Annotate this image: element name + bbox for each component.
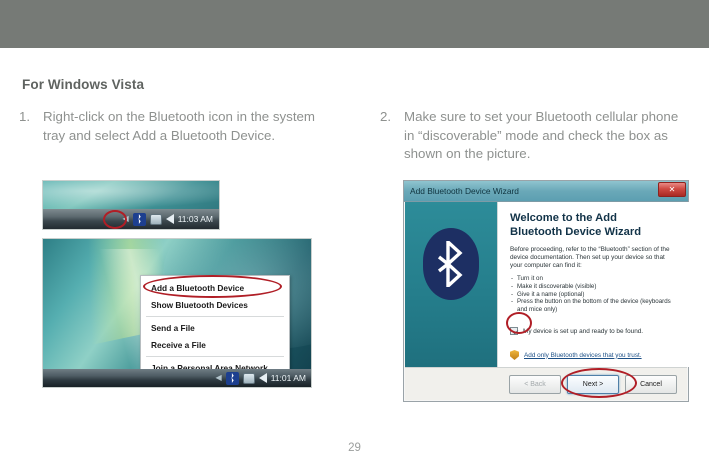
step-1-text: Right-click on the Bluetooth icon in the…	[43, 108, 319, 145]
bullet-give-name: Give it a name (optional)	[510, 291, 682, 299]
wallpaper-highlight	[42, 180, 220, 211]
shield-icon	[510, 350, 519, 360]
bullet-turn-it-on: Turn it on	[510, 275, 682, 283]
bluetooth-tray-icon-bottom[interactable]	[226, 372, 239, 385]
menu-item-show-bluetooth-devices[interactable]: Show Bluetooth Devices	[141, 297, 289, 314]
menu-item-receive-a-file[interactable]: Receive a File	[141, 336, 289, 353]
device-ready-checkbox[interactable]	[510, 327, 518, 335]
bullet-press-button: Press the button on the bottom of the de…	[510, 298, 682, 313]
wizard-trust-link-row[interactable]: Add only Bluetooth devices that you trus…	[510, 350, 642, 360]
network-icon[interactable]	[150, 214, 162, 225]
wizard-footer: < Back Next > Cancel	[405, 367, 687, 400]
wizard-checkbox-row[interactable]: My device is set up and ready to be foun…	[510, 327, 682, 335]
wizard-bullet-list: Turn it on Make it discoverable (visible…	[510, 275, 682, 313]
window-title: Add Bluetooth Device Wizard	[404, 186, 519, 196]
clock-top: 11:03 AM	[178, 214, 213, 224]
chevron-left-icon: ◀	[123, 215, 129, 223]
menu-item-send-a-file[interactable]: Send a File	[141, 320, 289, 337]
tray-icon-group: ◀	[123, 213, 174, 226]
volume-icon-bottom[interactable]	[259, 373, 267, 383]
wizard-heading: Welcome to the Add Bluetooth Device Wiza…	[510, 212, 670, 239]
wizard-body: Welcome to the Add Bluetooth Device Wiza…	[405, 202, 687, 367]
tray-icon-group-bottom: ◀	[216, 372, 267, 385]
step-1: 1. Right-click on the Bluetooth icon in …	[19, 108, 319, 145]
bluetooth-tray-icon[interactable]	[133, 213, 146, 226]
step-2-text: Make sure to set your Bluetooth cellular…	[404, 108, 680, 164]
wizard-paragraph: Before proceeding, refer to the “Bluetoo…	[510, 246, 678, 269]
clock-bottom: 11:01 AM	[271, 373, 306, 383]
top-gray-band	[0, 0, 709, 48]
back-button[interactable]: < Back	[509, 375, 561, 394]
taskbar-bottom: ◀ 11:01 AM	[43, 369, 311, 387]
manual-page: For Windows Vista 1. Right-click on the …	[0, 0, 709, 458]
volume-icon[interactable]	[166, 214, 174, 224]
chevron-left-icon-bottom: ◀	[216, 374, 222, 382]
menu-separator-2	[146, 356, 284, 357]
system-tray-screenshot: ◀ 11:03 AM	[42, 180, 220, 230]
figure-tray-context-menu: ◀ 11:03 AM Add a Bluetooth Device Show B…	[40, 180, 314, 394]
page-title: For Windows Vista	[22, 77, 144, 92]
cancel-button[interactable]: Cancel	[625, 375, 677, 394]
menu-item-add-bluetooth-device[interactable]: Add a Bluetooth Device	[141, 280, 289, 297]
step-1-number: 1.	[19, 108, 43, 127]
window-title-bar: Add Bluetooth Device Wizard ✕	[404, 181, 688, 202]
wizard-main-panel: Welcome to the Add Bluetooth Device Wiza…	[498, 202, 692, 367]
close-icon[interactable]: ✕	[658, 182, 686, 197]
figure-add-bluetooth-wizard: Add Bluetooth Device Wizard ✕ Welcome to…	[403, 180, 689, 402]
wizard-sidebar	[405, 202, 498, 367]
add-bluetooth-device-wizard-window: Add Bluetooth Device Wizard ✕ Welcome to…	[403, 180, 689, 402]
menu-separator-1	[146, 316, 284, 317]
page-number: 29	[0, 442, 709, 454]
bluetooth-logo-icon	[423, 228, 479, 300]
step-2-number: 2.	[380, 108, 404, 127]
network-icon-bottom[interactable]	[243, 373, 255, 384]
desktop-screenshot: Add a Bluetooth Device Show Bluetooth De…	[42, 238, 312, 388]
taskbar-top: ◀ 11:03 AM	[43, 209, 219, 229]
next-button[interactable]: Next >	[567, 375, 619, 394]
page-content: For Windows Vista 1. Right-click on the …	[0, 48, 709, 458]
device-ready-checkbox-label: My device is set up and ready to be foun…	[523, 328, 643, 335]
trust-devices-link[interactable]: Add only Bluetooth devices that you trus…	[524, 352, 642, 359]
step-2: 2. Make sure to set your Bluetooth cellu…	[380, 108, 680, 164]
bullet-make-discoverable: Make it discoverable (visible)	[510, 283, 682, 291]
